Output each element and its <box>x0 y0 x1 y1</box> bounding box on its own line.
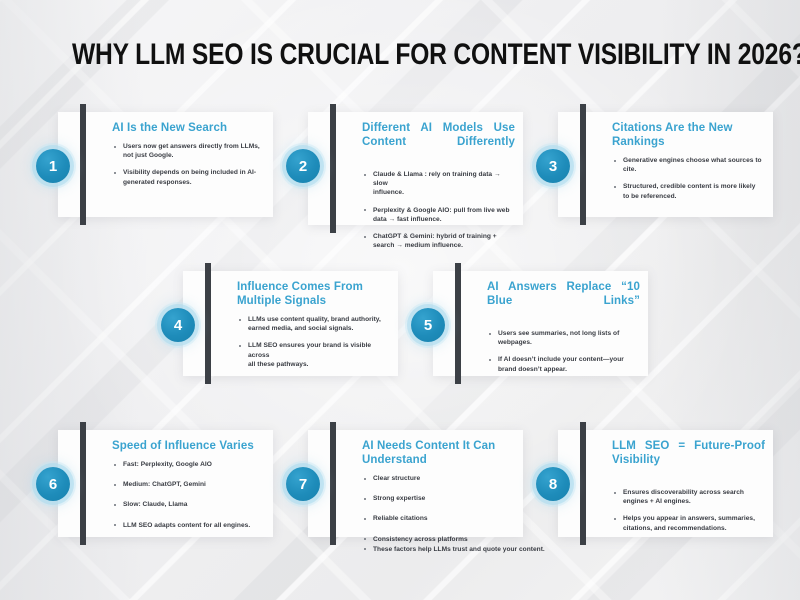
bullet-item: Fast: Perplexity, Google AIO <box>112 460 265 469</box>
card-bullet-list: LLMs use content quality, brand authorit… <box>237 315 390 369</box>
card-number-badge-2: 2 <box>286 149 320 183</box>
card-number-badge-3: 3 <box>536 149 570 183</box>
card-1: AI Is the New Search Users now get answe… <box>58 112 273 217</box>
card-content: Different AI Models Use Content Differen… <box>362 121 515 219</box>
bullet-item: LLM SEO ensures your brand is visible ac… <box>237 341 390 369</box>
card-title: AI Is the New Search <box>112 121 265 135</box>
bullet-item: Claude & Llama : rely on training data →… <box>362 170 515 198</box>
card-accent-bar <box>580 104 586 225</box>
card-title: LLM SEO = Future-Proof Visibility <box>612 439 765 481</box>
bullet-item: Reliable citations <box>362 514 553 523</box>
bullet-item: Ensures discoverability across search en… <box>612 488 765 506</box>
card-content: AI Needs Content It Can Understand Clear… <box>362 439 553 531</box>
bullet-item: Slow: Claude, Llama <box>112 500 265 509</box>
card-bullet-list: Users see summaries, not long lists of w… <box>487 329 640 374</box>
infographic-canvas: WHY LLM SEO IS CRUCIAL FOR CONTENT VISIB… <box>0 0 800 600</box>
card-title: Influence Comes From Multiple Signals <box>237 280 390 308</box>
bullet-item: If AI doesn’t include your content—your … <box>487 355 640 373</box>
card-title: AI Needs Content It Can Understand <box>362 439 542 467</box>
card-accent-bar <box>330 422 336 545</box>
card-number-badge-5: 5 <box>411 308 445 342</box>
card-bullet-list: Claude & Llama : rely on training data →… <box>362 170 515 250</box>
card-title: Different AI Models Use Content Differen… <box>362 121 515 163</box>
bullet-item: Helps you appear in answers, summaries, … <box>612 514 765 532</box>
card-accent-bar <box>330 104 336 233</box>
card-accent-bar <box>205 263 211 384</box>
card-bullet-list: Ensures discoverability across search en… <box>612 488 765 533</box>
card-2: Different AI Models Use Content Differen… <box>308 112 523 225</box>
bullet-item: Perplexity & Google AIO: pull from live … <box>362 206 515 224</box>
card-bullet-list: Fast: Perplexity, Google AIO Medium: Cha… <box>112 460 265 530</box>
card-bullet-list: Users now get answers directly from LLMs… <box>112 142 265 187</box>
card-5: AI Answers Replace “10 Blue Links” Users… <box>433 271 648 376</box>
card-title: Speed of Influence Varies <box>112 439 265 453</box>
card-content: Speed of Influence Varies Fast: Perplexi… <box>112 439 265 531</box>
bullet-item: Medium: ChatGPT, Gemini <box>112 480 265 489</box>
bullet-item: Clear structure <box>362 474 553 483</box>
bullet-item: LLM SEO adapts content for all engines. <box>112 521 265 530</box>
card-number-badge-4: 4 <box>161 308 195 342</box>
card-bullet-list: Generative engines choose what sources t… <box>612 156 765 201</box>
card-7: AI Needs Content It Can Understand Clear… <box>308 430 523 537</box>
card-title: Citations Are the New Rankings <box>612 121 765 149</box>
card-accent-bar <box>80 422 86 545</box>
card-3: Citations Are the New Rankings Generativ… <box>558 112 773 217</box>
bullet-item: Structured, credible content is more lik… <box>612 182 765 200</box>
bullet-item: Consistency across platforms <box>362 535 553 544</box>
card-accent-bar <box>580 422 586 545</box>
card-accent-bar <box>80 104 86 225</box>
page-title: WHY LLM SEO IS CRUCIAL FOR CONTENT VISIB… <box>72 38 728 72</box>
card-4: Influence Comes From Multiple Signals LL… <box>183 271 398 376</box>
card-number-badge-6: 6 <box>36 467 70 501</box>
card-6: Speed of Influence Varies Fast: Perplexi… <box>58 430 273 537</box>
card-accent-bar <box>455 263 461 384</box>
card-content: Influence Comes From Multiple Signals LL… <box>237 280 390 370</box>
card-title: AI Answers Replace “10 Blue Links” <box>487 280 640 322</box>
bullet-item: ChatGPT & Gemini: hybrid of training + s… <box>362 232 515 250</box>
card-content: AI Is the New Search Users now get answe… <box>112 121 265 211</box>
card-content: AI Answers Replace “10 Blue Links” Users… <box>487 280 640 370</box>
bullet-item: Visibility depends on being included in … <box>112 168 265 186</box>
card-bullet-list: Clear structure Strong expertise Reliabl… <box>362 474 553 554</box>
bullet-item: These factors help LLMs trust and quote … <box>362 545 553 554</box>
bullet-item: LLMs use content quality, brand authorit… <box>237 315 390 333</box>
card-8: LLM SEO = Future-Proof Visibility Ensure… <box>558 430 773 537</box>
bullet-item: Users see summaries, not long lists of w… <box>487 329 640 347</box>
card-number-badge-8: 8 <box>536 467 570 501</box>
card-number-badge-7: 7 <box>286 467 320 501</box>
bullet-item: Users now get answers directly from LLMs… <box>112 142 265 160</box>
card-number-badge-1: 1 <box>36 149 70 183</box>
card-content: LLM SEO = Future-Proof Visibility Ensure… <box>612 439 765 531</box>
bullet-item: Strong expertise <box>362 494 553 503</box>
bullet-item: Generative engines choose what sources t… <box>612 156 765 174</box>
card-content: Citations Are the New Rankings Generativ… <box>612 121 765 211</box>
